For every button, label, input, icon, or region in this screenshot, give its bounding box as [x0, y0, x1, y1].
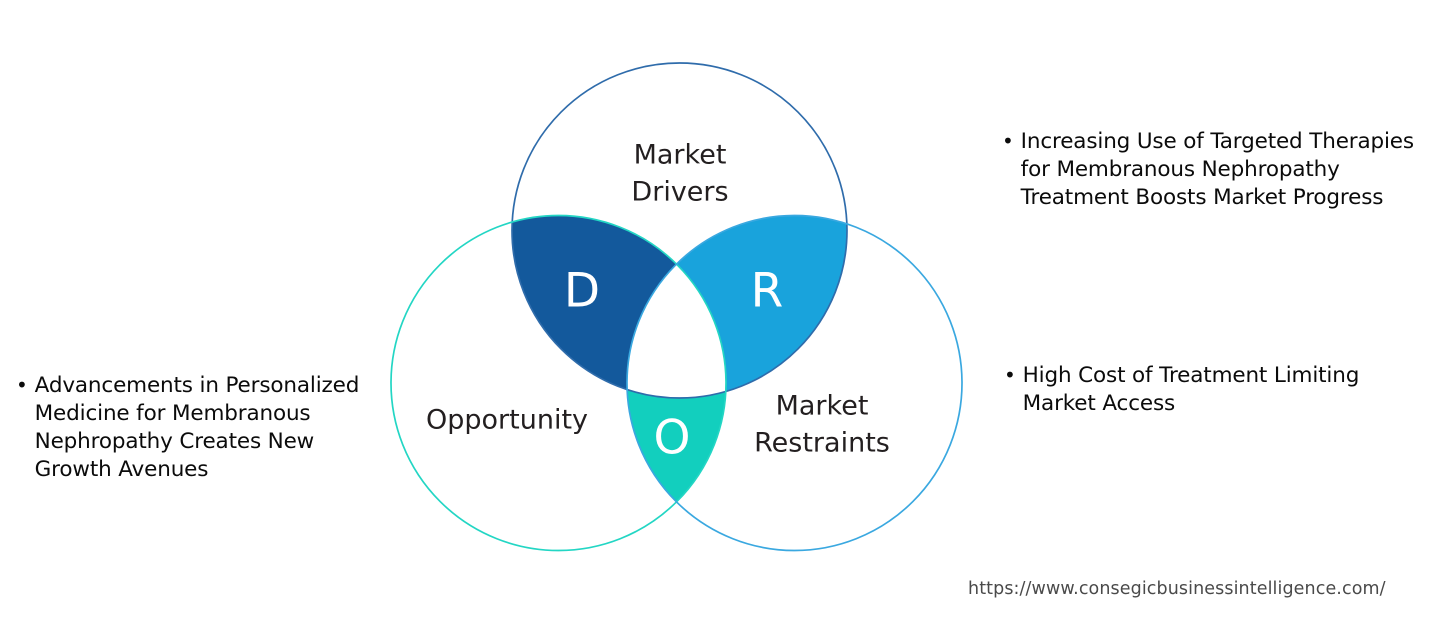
- label-market-drivers-line1: Market: [634, 140, 727, 171]
- lens-letter-d: D: [564, 264, 600, 319]
- callout-market-restraints-text: High Cost of Treatment Limiting Market A…: [1023, 362, 1404, 418]
- bullet-icon: •: [16, 372, 28, 398]
- source-url[interactable]: https://www.consegicbusinessintelligence…: [968, 579, 1438, 599]
- bullet-icon: •: [1004, 362, 1016, 388]
- venn-svg: Market Drivers Opportunity Market Restra…: [370, 45, 980, 590]
- label-market-drivers-line2: Drivers: [631, 177, 728, 208]
- label-opportunity: Opportunity: [426, 405, 588, 436]
- callout-market-drivers-text: Increasing Use of Targeted Therapies for…: [1021, 128, 1434, 212]
- venn-diagram: Market Drivers Opportunity Market Restra…: [370, 45, 980, 590]
- label-market-restraints-line1: Market: [776, 391, 869, 422]
- callout-market-drivers: • Increasing Use of Targeted Therapies f…: [1002, 128, 1434, 212]
- infographic-canvas: Market Drivers Opportunity Market Restra…: [0, 0, 1453, 633]
- bullet-icon: •: [1002, 128, 1014, 154]
- label-market-restraints-line2: Restraints: [754, 428, 890, 459]
- lens-letter-o: O: [654, 411, 691, 466]
- callout-opportunity-text: Advancements in Personalized Medicine fo…: [35, 372, 376, 484]
- lens-letter-r: R: [751, 264, 784, 319]
- callout-opportunity: • Advancements in Personalized Medicine …: [16, 372, 376, 484]
- callout-market-restraints: • High Cost of Treatment Limiting Market…: [1004, 362, 1404, 418]
